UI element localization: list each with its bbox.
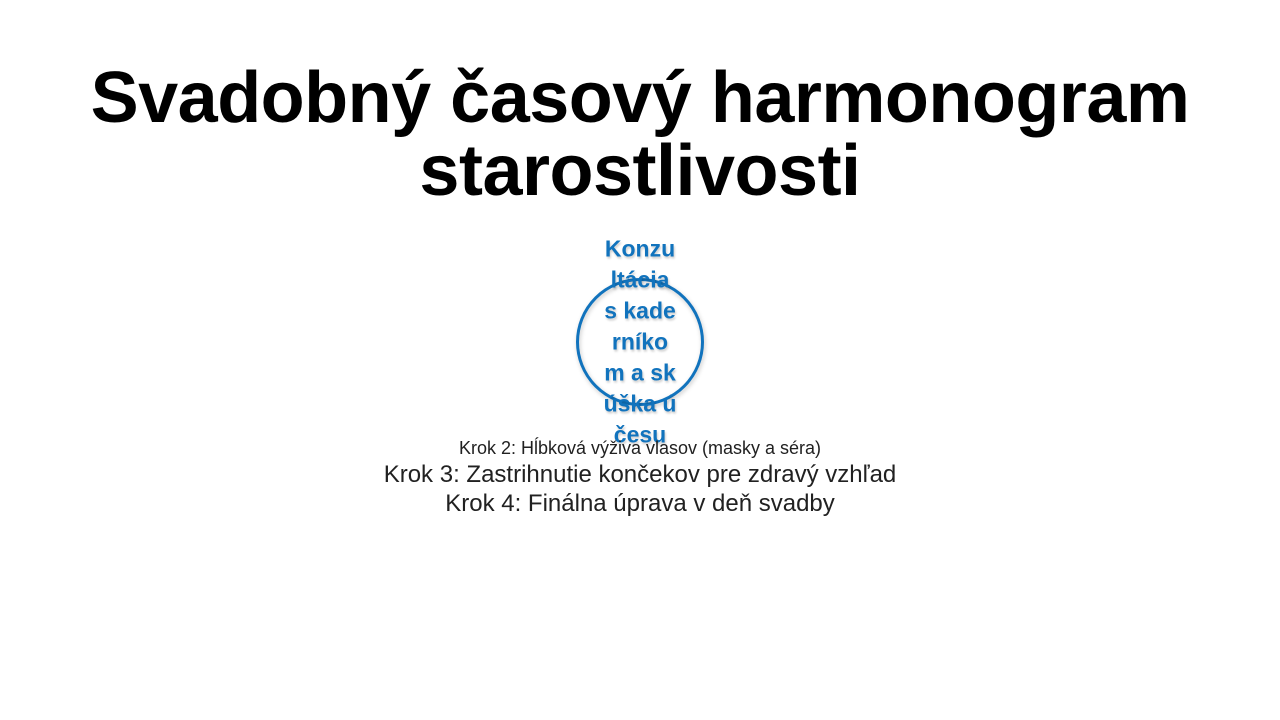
body-line-step4: Krok 4: Finálna úprava v deň svadby <box>64 489 1216 518</box>
circle-outline <box>576 278 704 406</box>
body-line-step3: Krok 3: Zastrihnutie končekov pre zdravý… <box>64 460 1216 489</box>
slide-title: Svadobný časový harmonogram starostlivos… <box>64 62 1216 208</box>
body-line-step2: Krok 2: Hĺbková výživa vlasov (masky a s… <box>64 437 1216 459</box>
diagram-circle-shape[interactable]: Konzultácia s kaderníkom a skúška účesu <box>576 278 704 406</box>
presentation-slide: Svadobný časový harmonogram starostlivos… <box>0 0 1280 720</box>
